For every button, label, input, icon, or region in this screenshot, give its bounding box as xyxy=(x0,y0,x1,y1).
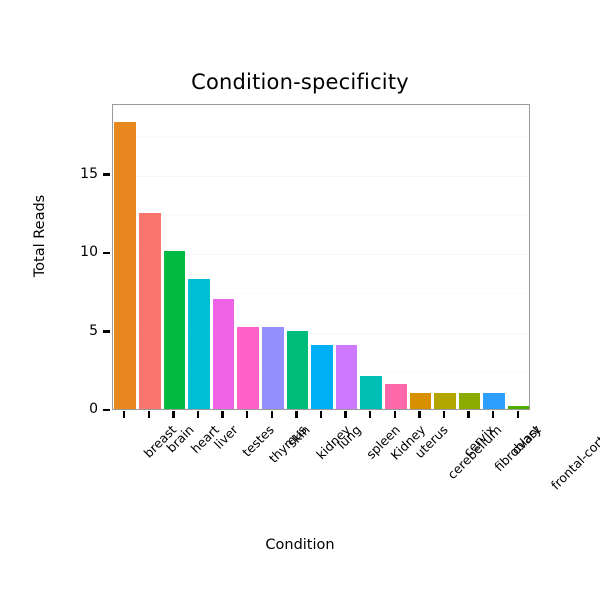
y-axis-label: Total Reads xyxy=(32,156,48,316)
x-tick-mark xyxy=(517,411,519,418)
bar xyxy=(336,345,358,409)
y-tick-label: 0 xyxy=(54,401,98,417)
y-tick-mark xyxy=(103,330,110,332)
x-tick-mark xyxy=(271,411,273,418)
bar xyxy=(139,213,161,409)
x-tick-mark xyxy=(394,411,396,418)
x-tick-mark xyxy=(492,411,494,418)
x-tick-mark xyxy=(369,411,371,418)
x-tick-mark xyxy=(123,411,125,418)
x-tick-mark xyxy=(467,411,469,418)
x-tick-mark xyxy=(320,411,322,418)
chart-title: Condition-specificity xyxy=(0,70,600,94)
bar xyxy=(213,299,235,409)
bar xyxy=(508,406,530,409)
x-tick-label: ovary xyxy=(508,422,544,458)
y-tick-label: 15 xyxy=(54,166,98,182)
chart-container: Condition-specificity Total Reads 051015… xyxy=(0,0,600,600)
x-tick-mark xyxy=(172,411,174,418)
x-tick-mark xyxy=(443,411,445,418)
bar xyxy=(434,393,456,409)
x-tick-mark xyxy=(418,411,420,418)
x-tick-mark xyxy=(148,411,150,418)
bar xyxy=(188,279,210,409)
x-axis-label: Condition xyxy=(0,537,600,553)
bar xyxy=(237,327,259,409)
bar xyxy=(385,384,407,409)
y-tick-label: 10 xyxy=(54,244,98,260)
bar xyxy=(360,376,382,409)
x-tick-label: frontal-cortex xyxy=(548,422,600,493)
bar xyxy=(287,331,309,409)
bar xyxy=(262,327,284,409)
bar xyxy=(410,393,432,409)
bars-group xyxy=(113,105,529,409)
bar xyxy=(114,122,136,409)
bar xyxy=(483,393,505,409)
y-tick-mark xyxy=(103,252,110,254)
y-tick-mark xyxy=(103,409,110,411)
bar xyxy=(459,393,481,409)
plot-panel xyxy=(112,104,530,410)
x-tick-mark xyxy=(344,411,346,418)
x-tick-mark xyxy=(221,411,223,418)
bar xyxy=(311,345,333,409)
y-tick-label: 5 xyxy=(54,323,98,339)
x-tick-mark xyxy=(295,411,297,418)
bar xyxy=(164,251,186,409)
x-tick-mark xyxy=(246,411,248,418)
y-tick-mark xyxy=(103,173,110,175)
x-tick-mark xyxy=(197,411,199,418)
